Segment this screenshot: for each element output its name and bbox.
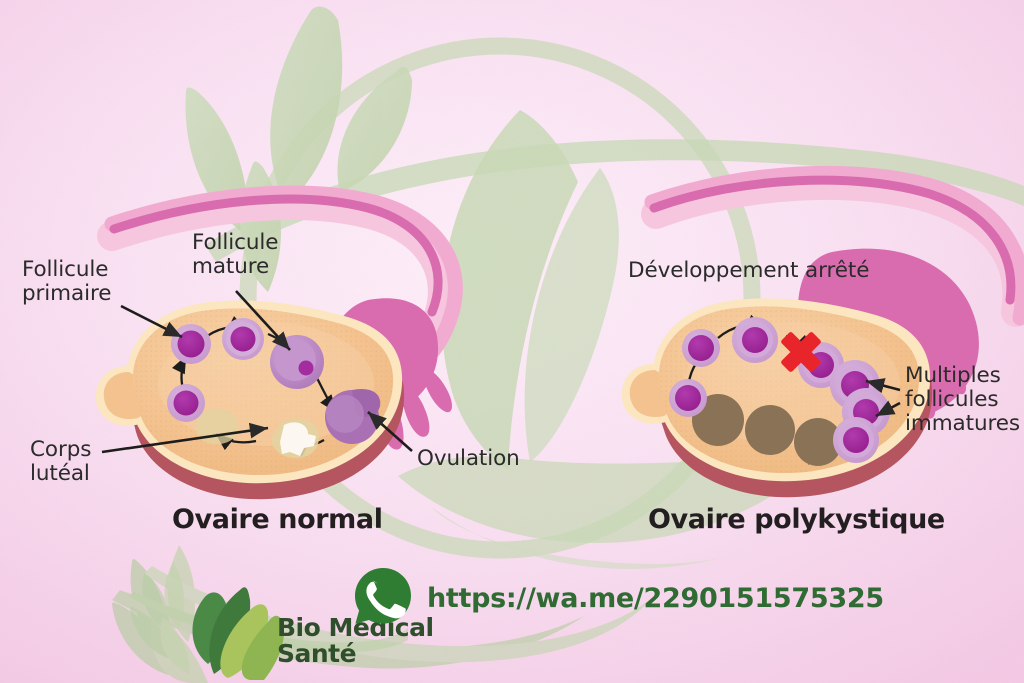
infographic-canvas: Follicule primaire Follicule mature Corp… [0, 0, 1024, 683]
label-developpement-arrete: Développement arrêté [628, 259, 869, 283]
title-ovaire-normal: Ovaire normal [172, 504, 383, 535]
follicle-mature-left [270, 335, 324, 389]
label-corps-luteal: Corps lutéal [30, 438, 91, 486]
follicle-primary-left [171, 324, 211, 364]
label-follicule-primaire: Follicule primaire [22, 258, 111, 306]
label-multiples-follicules-immatures: Multiples follicules immatures [905, 364, 1020, 436]
whatsapp-url[interactable]: https://wa.me/2290151575325 [427, 583, 884, 614]
corpus-albicans-left [196, 408, 239, 444]
label-ovulation: Ovulation [417, 447, 520, 471]
whatsapp-icon[interactable] [352, 565, 414, 627]
logo-leaf-icon [192, 587, 284, 680]
follicle-secondary-left [167, 384, 205, 422]
label-follicule-mature: Follicule mature [192, 231, 278, 279]
polycystic-ovary [622, 298, 932, 497]
normal-ovary [96, 300, 404, 499]
title-ovaire-polykystique: Ovaire polykystique [648, 504, 945, 535]
follicle-growing-left [222, 318, 264, 360]
